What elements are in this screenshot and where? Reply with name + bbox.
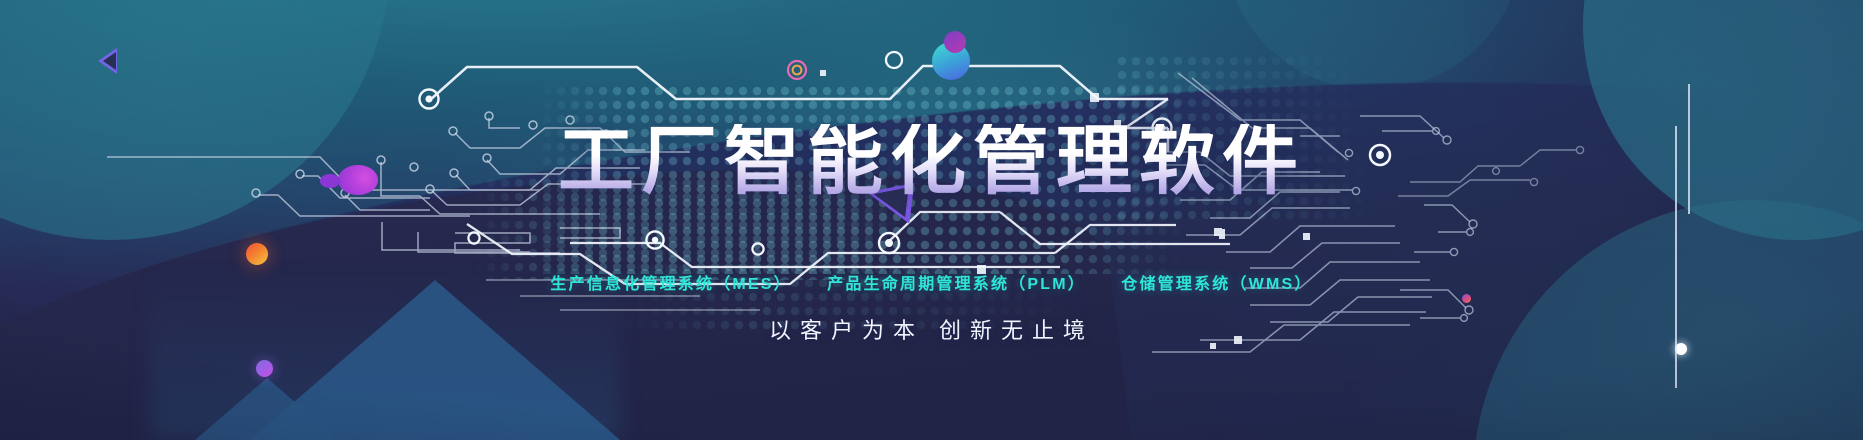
page-title: 工厂智能化管理软件 [0, 124, 1863, 200]
subsystem-item-wms: 仓储管理系统（WMS） [1121, 270, 1312, 294]
vignette-overlay [0, 0, 1863, 440]
subsystem-item-mes: 生产信息化管理系统（MES） [550, 270, 791, 294]
subsystem-item-plm: 产品生命周期管理系统（PLM） [827, 270, 1086, 294]
subsystem-list: 生产信息化管理系统（MES） 产品生命周期管理系统（PLM） 仓储管理系统（WM… [0, 270, 1863, 294]
slogan: 以客户为本 创新无止境 [0, 313, 1863, 345]
hero-banner: 工厂智能化管理软件 生产信息化管理系统（MES） 产品生命周期管理系统（PLM）… [0, 0, 1863, 440]
